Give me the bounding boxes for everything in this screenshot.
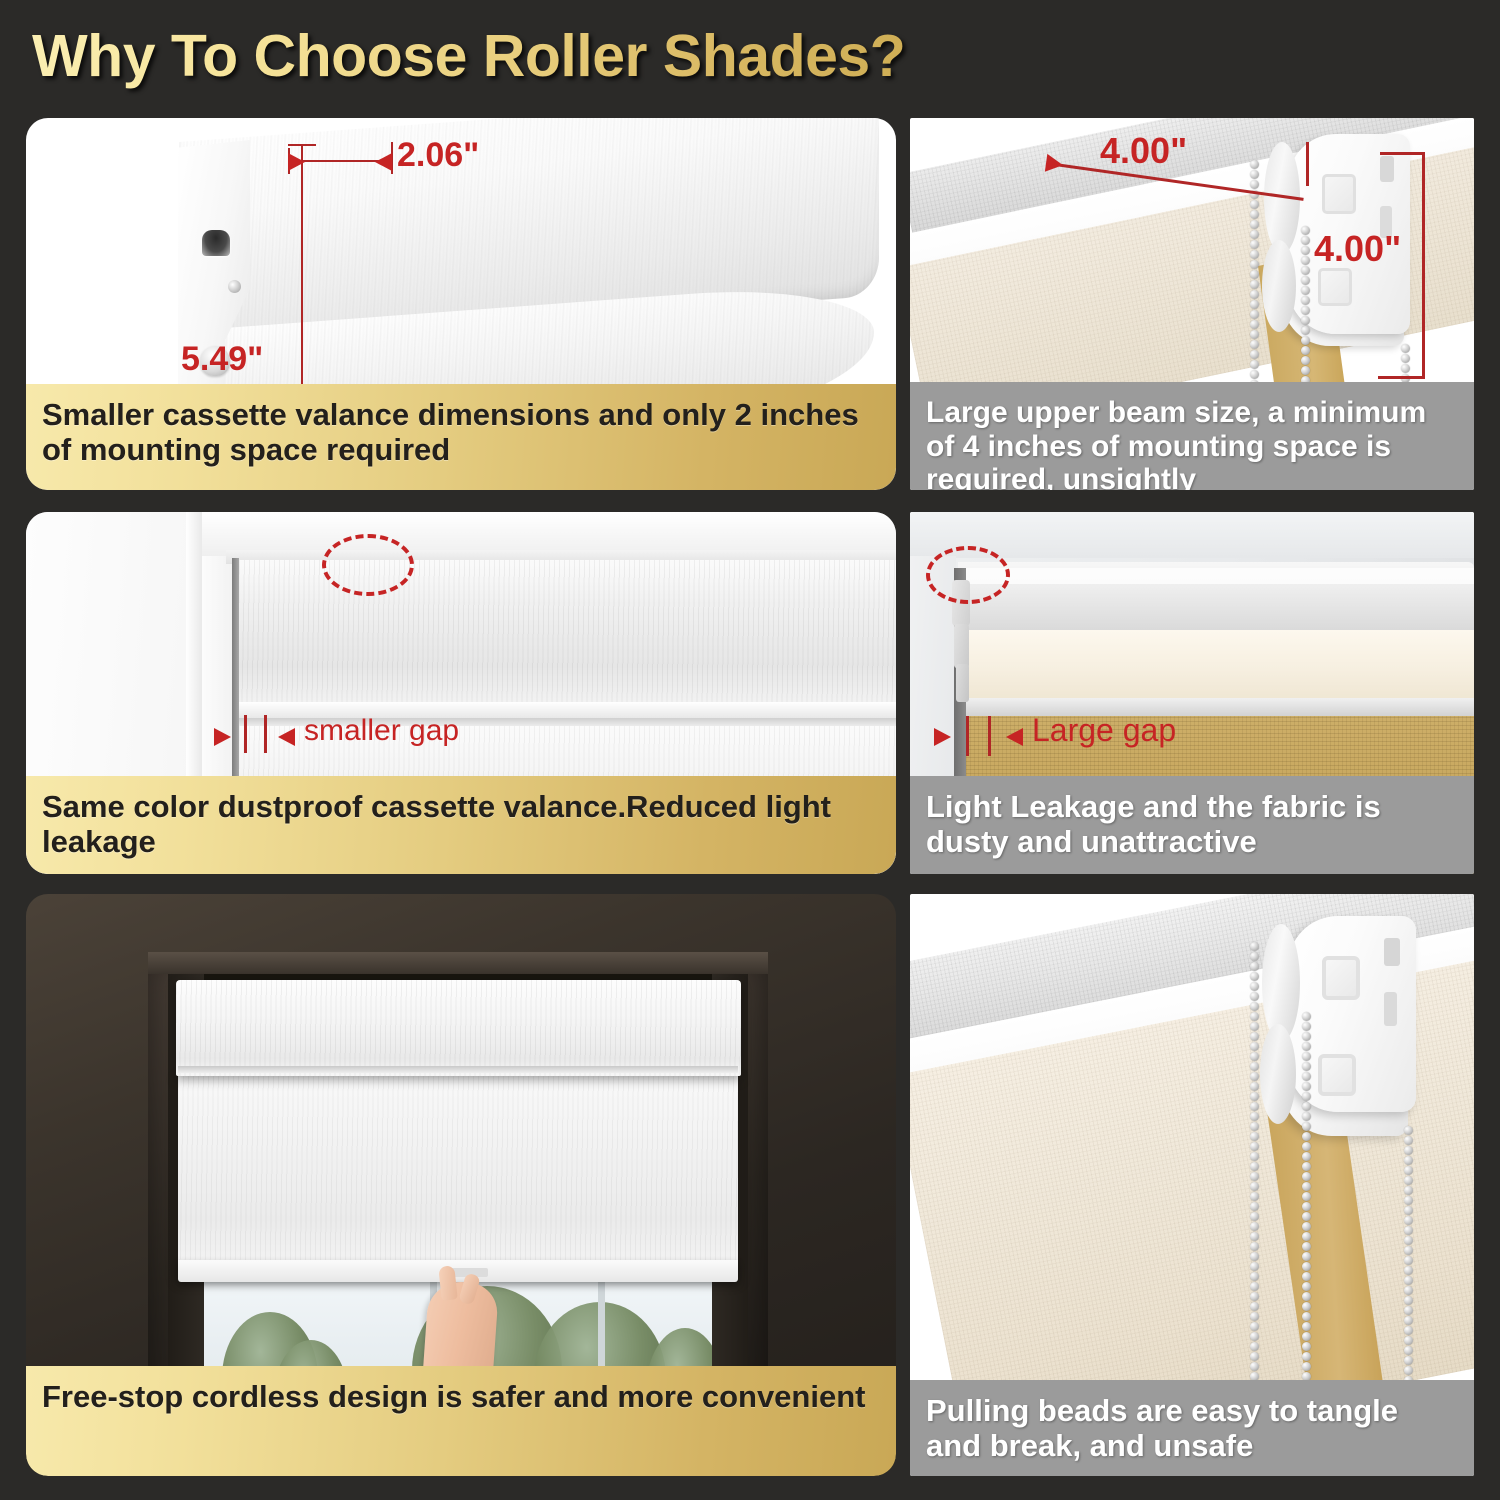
bracket-emboss-upper bbox=[1322, 956, 1360, 1000]
bead-chain-middle bbox=[1302, 1012, 1311, 1412]
page-title: Why To Choose Roller Shades? bbox=[32, 22, 905, 90]
caption-cordless-design: Free-stop cordless design is safer and m… bbox=[26, 1366, 896, 1476]
shade-fabric bbox=[178, 1073, 738, 1277]
panel-our-gap: smaller gap Same color dustproof cassett… bbox=[26, 512, 896, 874]
panel-competitor-gap: Large gap Light Leakage and the fabric i… bbox=[910, 512, 1474, 874]
bracket-lug-upper bbox=[1380, 156, 1394, 182]
bracket-emboss-lower bbox=[1318, 268, 1352, 306]
bracket-mechanism-lower bbox=[956, 664, 969, 702]
width-dimension-label: 4.00" bbox=[1100, 130, 1187, 172]
panel-our-cassette: 2.06" 5.49" Smaller cassette valance dim… bbox=[26, 118, 896, 490]
roller-end-lower bbox=[1262, 240, 1296, 332]
infographic-root: Why To Choose Roller Shades? 2.06" 5.49" bbox=[0, 0, 1500, 1500]
panel-cordless-design: Free-stop cordless design is safer and m… bbox=[26, 894, 896, 1476]
bracket-lug-upper bbox=[1384, 938, 1400, 966]
height-dimension-label: 4.00" bbox=[1314, 228, 1401, 270]
width-dimension-label: 2.06" bbox=[397, 136, 479, 175]
height-dimension-label: 5.49" bbox=[181, 340, 263, 379]
bracket-slot bbox=[202, 230, 230, 256]
valance-lip bbox=[178, 1066, 738, 1073]
cassette-valance bbox=[176, 980, 741, 1076]
bracket-lug-lower bbox=[1384, 992, 1397, 1026]
gap-callout-label: smaller gap bbox=[304, 714, 459, 748]
window-reveal-top bbox=[148, 952, 768, 974]
bead-chain-left bbox=[1250, 160, 1259, 420]
caption-competitor-beam: Large upper beam size, a minimum of 4 in… bbox=[910, 382, 1474, 490]
caption-our-cassette: Smaller cassette valance dimensions and … bbox=[26, 384, 896, 490]
head-rail-highlight bbox=[958, 568, 1474, 584]
caption-our-gap: Same color dustproof cassette valance.Re… bbox=[26, 776, 896, 874]
gap-callout-label: Large gap bbox=[1032, 712, 1176, 749]
bracket-emboss-upper bbox=[1322, 174, 1356, 214]
bracket-screw-icon bbox=[228, 280, 241, 293]
dashed-highlight-circle-icon bbox=[926, 546, 1010, 604]
panel-competitor-beam: 4.00" 4.00" Large upper beam size, a min… bbox=[910, 118, 1474, 490]
bead-chain-left bbox=[1250, 942, 1259, 1422]
cream-fabric-band bbox=[966, 630, 1474, 702]
caption-competitor-beads: Pulling beads are easy to tangle and bre… bbox=[910, 1380, 1474, 1476]
ceiling-surface bbox=[910, 512, 1474, 558]
caption-competitor-gap: Light Leakage and the fabric is dusty an… bbox=[910, 776, 1474, 874]
dashed-highlight-circle-icon bbox=[322, 534, 414, 596]
roller-end-lower bbox=[1260, 1024, 1296, 1124]
panel-competitor-beads: Pulling beads are easy to tangle and bre… bbox=[910, 894, 1474, 1476]
bracket-emboss-lower bbox=[1318, 1054, 1356, 1096]
bracket-mechanism-middle bbox=[954, 624, 969, 668]
